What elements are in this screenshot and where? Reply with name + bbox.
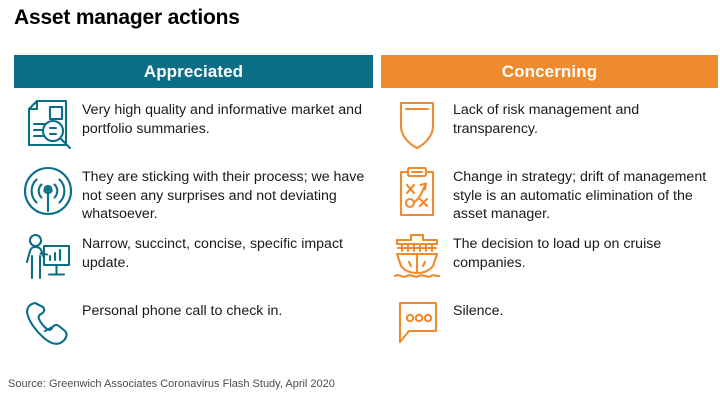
presenter-chart-icon <box>14 230 82 282</box>
column-concerning: Lack of risk management and transparency… <box>381 96 718 364</box>
list-item: Silence. <box>381 297 718 364</box>
shield-icon <box>381 96 453 150</box>
column-header-concerning: Concerning <box>381 55 718 88</box>
list-item: Change in strategy; drift of management … <box>381 163 718 230</box>
speech-bubble-ellipsis-icon <box>381 297 453 345</box>
phone-handset-icon <box>14 297 82 349</box>
list-item: They are sticking with their process; we… <box>14 163 373 230</box>
column-appreciated: Very high quality and informative market… <box>14 96 373 364</box>
list-item-text: Lack of risk management and transparency… <box>453 96 718 138</box>
list-item-text: The decision to load up on cruise compan… <box>453 230 718 272</box>
column-headers: Appreciated Concerning <box>14 55 718 88</box>
list-item-text: Change in strategy; drift of management … <box>453 163 718 224</box>
page-title: Asset manager actions <box>14 6 240 30</box>
content-columns: Very high quality and informative market… <box>14 96 718 364</box>
list-item-text: Silence. <box>453 297 509 321</box>
list-item: Lack of risk management and transparency… <box>381 96 718 163</box>
column-header-appreciated: Appreciated <box>14 55 373 88</box>
list-item: The decision to load up on cruise compan… <box>381 230 718 297</box>
list-item: Narrow, succinct, concise, specific impa… <box>14 230 373 297</box>
source-note: Source: Greenwich Associates Coronavirus… <box>8 378 335 390</box>
list-item-text: Personal phone call to check in. <box>82 297 288 321</box>
list-item: Personal phone call to check in. <box>14 297 373 364</box>
clipboard-strategy-icon <box>381 163 453 219</box>
list-item-text: Narrow, succinct, concise, specific impa… <box>82 230 373 272</box>
list-item-text: Very high quality and informative market… <box>82 96 373 138</box>
broadcast-signal-icon <box>14 163 82 217</box>
document-search-icon <box>14 96 82 150</box>
list-item: Very high quality and informative market… <box>14 96 373 163</box>
cruise-ship-icon <box>381 230 453 280</box>
list-item-text: They are sticking with their process; we… <box>82 163 373 224</box>
